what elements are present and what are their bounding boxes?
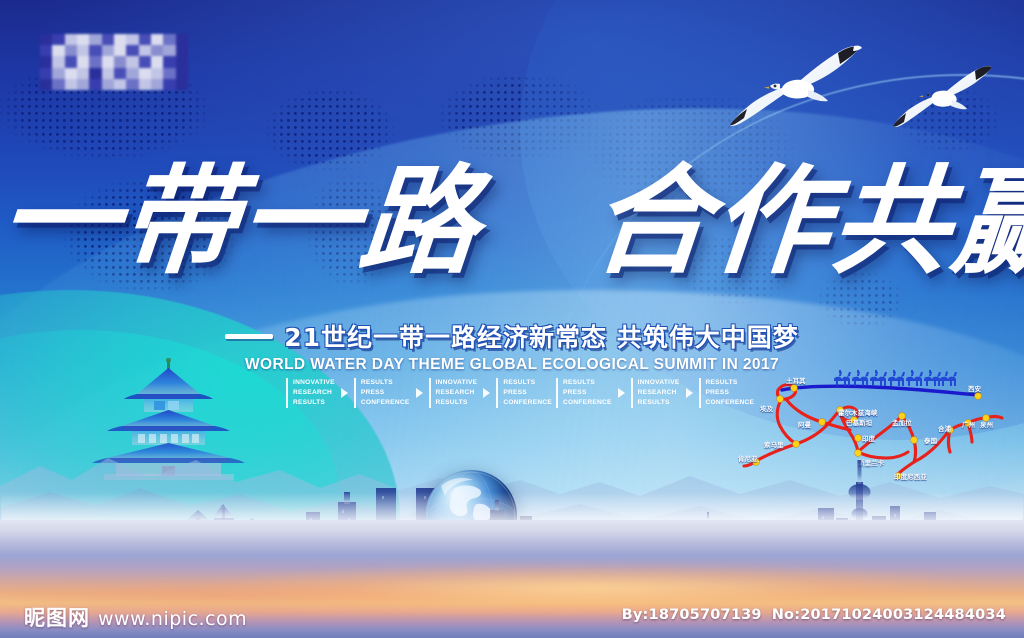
- pixel-cell: [163, 79, 175, 90]
- pixel-cell: [139, 68, 151, 79]
- watermark-brand-cn: 昵图网: [24, 602, 90, 632]
- pixel-cell: [52, 68, 64, 79]
- page-title: 一带一路 合作共赢: [0, 162, 1024, 280]
- pixel-cell: [163, 45, 175, 56]
- map-city-label: 孟加拉: [892, 418, 912, 427]
- process-step-label: RESULTSPRESSCONFERENCE: [563, 378, 612, 408]
- arrow-right-icon: [341, 388, 348, 398]
- pixel-cell: [65, 68, 77, 79]
- pixel-cell: [151, 56, 163, 67]
- pixel-cell: [139, 34, 151, 45]
- pixelated-logo-block: [40, 34, 188, 90]
- pixel-cell: [126, 79, 138, 90]
- pixel-cell: [77, 45, 89, 56]
- subtitle-row: 21世纪一带一路经济新常态 共筑伟大中国梦: [0, 318, 1024, 354]
- pixel-cell: [40, 45, 52, 56]
- pixel-cell: [176, 34, 188, 45]
- pixel-cell: [77, 34, 89, 45]
- map-city-label: 巴基斯坦: [846, 418, 872, 427]
- pixel-cell: [102, 68, 114, 79]
- pixel-cell: [89, 45, 101, 56]
- pixel-cell: [139, 79, 151, 90]
- arrow-right-icon: [686, 388, 693, 398]
- pixel-cell: [163, 56, 175, 67]
- pixel-cell: [52, 45, 64, 56]
- pixel-cell: [52, 34, 64, 45]
- process-step: INNOVATIVERESEARCHRESULTS: [286, 378, 335, 408]
- pixel-cell: [114, 45, 126, 56]
- process-flow: INNOVATIVERESEARCHRESULTSRESULTSPRESSCON…: [286, 378, 758, 408]
- pixel-cell: [89, 79, 101, 90]
- headline-part-1: 一带一路: [0, 151, 486, 290]
- pixel-cell: [151, 45, 163, 56]
- camel-caravan-silhouette: [830, 368, 958, 392]
- map-city-label: 霍尔木兹海峡: [838, 408, 878, 417]
- pixel-cell: [89, 34, 101, 45]
- pixel-cell: [114, 79, 126, 90]
- process-step: RESULTSPRESSCONFERENCE: [354, 378, 410, 408]
- pixel-cell: [126, 68, 138, 79]
- pixel-cell: [65, 45, 77, 56]
- pixel-cell: [40, 56, 52, 67]
- arrow-right-icon: [416, 388, 423, 398]
- process-step: RESULTSPRESSCONFERENCE: [556, 378, 612, 408]
- pixel-cell: [89, 68, 101, 79]
- pixel-cell: [65, 79, 77, 90]
- pixel-cell: [139, 45, 151, 56]
- watermark-brand-url: www.nipic.com: [98, 608, 247, 630]
- pixel-cell: [65, 34, 77, 45]
- process-step-label: RESULTSPRESSCONFERENCE: [503, 378, 552, 408]
- pixel-cell: [102, 45, 114, 56]
- headline-part-2: 合作共赢: [586, 151, 1024, 290]
- asset-credit: By:18705707139 No:20171024003124484034: [622, 607, 1006, 623]
- asset-serial: No:20171024003124484034: [772, 607, 1006, 623]
- pixel-cell: [176, 45, 188, 56]
- process-step: INNOVATIVERESEARCHRESULTS: [631, 378, 680, 408]
- pixel-cell: [139, 56, 151, 67]
- pixel-cell: [40, 68, 52, 79]
- process-step-label: INNOVATIVERESEARCHRESULTS: [293, 378, 335, 408]
- pixel-cell: [89, 56, 101, 67]
- seagull-icon-large: [730, 44, 870, 136]
- pixel-cell: [163, 68, 175, 79]
- map-city-label: 阿曼: [798, 420, 811, 429]
- site-watermark: 昵图网 www.nipic.com: [24, 602, 247, 632]
- arrow-right-icon: [618, 388, 625, 398]
- pixel-cell: [176, 68, 188, 79]
- pixel-cell: [40, 79, 52, 90]
- pixel-cell: [126, 34, 138, 45]
- pixel-cell: [65, 56, 77, 67]
- pixel-cell: [163, 34, 175, 45]
- process-step-label: INNOVATIVERESEARCHRESULTS: [638, 378, 680, 408]
- pixel-cell: [114, 68, 126, 79]
- arrow-right-icon: [483, 388, 490, 398]
- pixel-cell: [114, 34, 126, 45]
- process-step: INNOVATIVERESEARCHRESULTS: [429, 378, 478, 408]
- pixel-cell: [52, 79, 64, 90]
- pixel-cell: [126, 45, 138, 56]
- pixel-cell: [176, 79, 188, 90]
- pixel-cell: [77, 56, 89, 67]
- pixel-cell: [102, 79, 114, 90]
- map-city-label: 土耳其: [786, 376, 806, 385]
- subtitle-chinese: 21世纪一带一路经济新常态 共筑伟大中国梦: [284, 318, 799, 354]
- process-step-label: INNOVATIVERESEARCHRESULTS: [436, 378, 478, 408]
- pixel-cell: [151, 34, 163, 45]
- map-city-label: 广州: [962, 420, 975, 429]
- process-step-label: RESULTSPRESSCONFERENCE: [361, 378, 410, 408]
- pixel-cell: [102, 56, 114, 67]
- process-step: RESULTSPRESSCONFERENCE: [496, 378, 552, 408]
- map-city-label: 西安: [968, 384, 981, 393]
- pixel-cell: [52, 56, 64, 67]
- pixel-cell: [102, 34, 114, 45]
- pixel-cell: [126, 56, 138, 67]
- subtitle-dash-icon: [225, 334, 273, 339]
- poster-canvas: 一带一路 合作共赢 21世纪一带一路经济新常态 共筑伟大中国梦 WORLD WA…: [0, 0, 1024, 638]
- author-id: By:18705707139: [622, 607, 762, 623]
- pixel-cell: [114, 56, 126, 67]
- pixel-cell: [77, 79, 89, 90]
- pixel-cell: [40, 34, 52, 45]
- map-city-label: 埃及: [760, 404, 773, 413]
- pixel-cell: [176, 56, 188, 67]
- pixel-cell: [151, 79, 163, 90]
- seagull-icon-small: [893, 64, 999, 138]
- map-city-label: 泉州: [980, 420, 993, 429]
- pixel-cell: [151, 68, 163, 79]
- pixel-cell: [77, 68, 89, 79]
